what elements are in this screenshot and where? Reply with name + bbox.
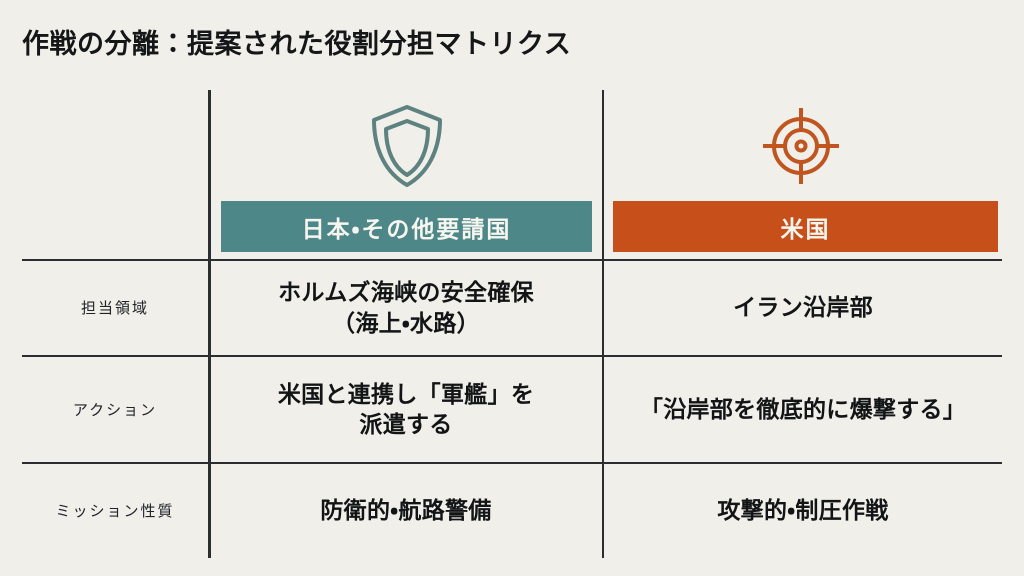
cell-r1-japan-allies: ホルムズ海峡の安全確保 （海上・水路） <box>210 260 602 355</box>
cell-line: イラン沿岸部 <box>733 292 873 322</box>
row-label-area-of-responsibility: 担当領域 <box>22 260 208 355</box>
cell-line: 防衛的・航路警備 <box>320 495 491 525</box>
cell-r3-japan-allies: 防衛的・航路警備 <box>210 463 602 558</box>
cell-r2-japan-allies: 米国と連携し「軍艦」を 派遣する <box>210 356 602 462</box>
column-header-japan-allies: 日本・その他要請国 <box>221 201 592 252</box>
cell-r3-united-states: 攻撃的・制圧作戦 <box>604 463 1002 558</box>
cell-line: 米国と連携し「軍艦」を <box>278 379 534 409</box>
row-label-action: アクション <box>22 356 208 462</box>
cell-r2-united-states: 「沿岸部を徹底的に爆撃する」 <box>604 356 1002 462</box>
cell-line: （海上・水路） <box>278 308 534 338</box>
column-header-united-states: 米国 <box>613 201 998 252</box>
cell-line: 「沿岸部を徹底的に爆撃する」 <box>640 394 966 424</box>
cell-r1-united-states: イラン沿岸部 <box>604 260 1002 355</box>
row-label-mission-character: ミッション性質 <box>22 463 208 558</box>
cell-line: 派遣する <box>278 409 534 439</box>
page-title: 作戦の分離：提案された役割分担マトリクス <box>22 22 571 61</box>
cell-line: 攻撃的・制圧作戦 <box>717 495 888 525</box>
shield-icon <box>361 100 453 192</box>
crosshair-target-icon <box>755 100 847 192</box>
infographic-root: 作戦の分離：提案された役割分担マトリクス 日本・その他要請国 米国 担当領域 ホ… <box>0 0 1024 576</box>
cell-line: ホルムズ海峡の安全確保 <box>278 277 534 307</box>
